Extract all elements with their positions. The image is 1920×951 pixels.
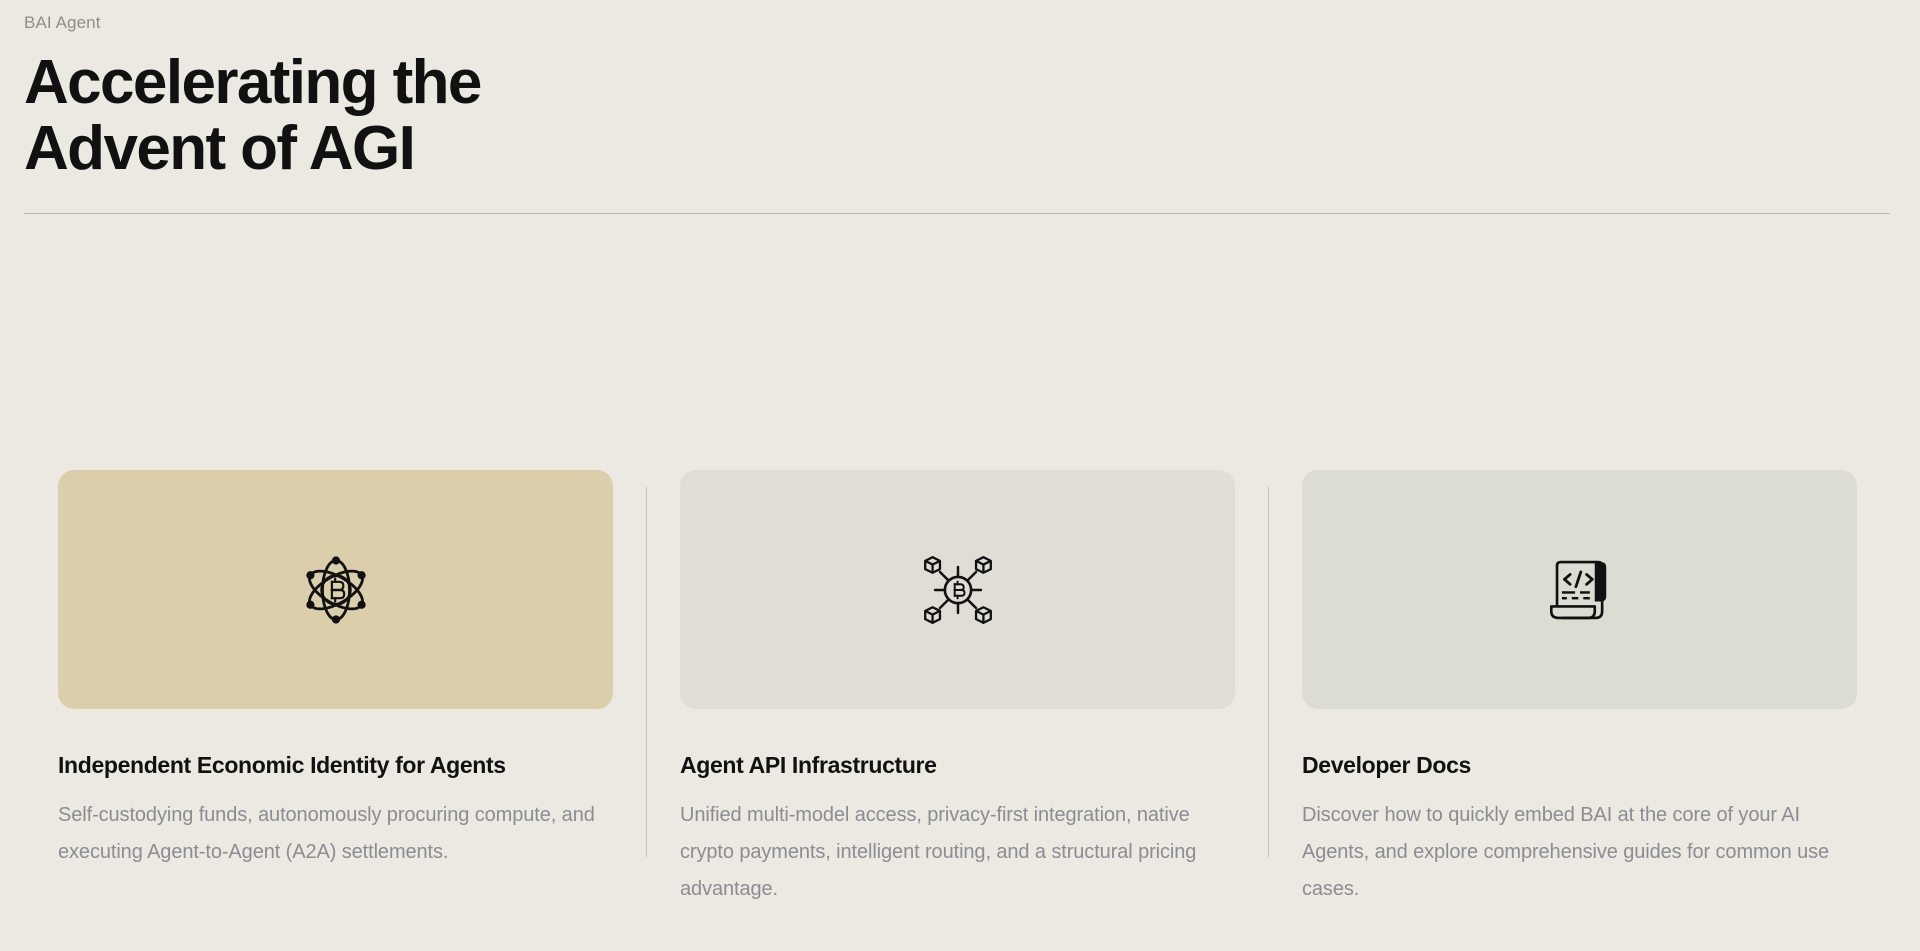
bitcoin-b-glyph bbox=[954, 581, 964, 597]
card-icon-panel bbox=[1302, 470, 1857, 709]
card-description: Discover how to quickly embed BAI at the… bbox=[1302, 797, 1857, 908]
feature-card-independent-economic-identity[interactable]: Independent Economic Identity for Agents… bbox=[58, 470, 613, 871]
page-title-line-2: Advent of AGI bbox=[24, 116, 724, 182]
feature-card-agent-api-infrastructure[interactable]: Agent API Infrastructure Unified multi-m… bbox=[680, 470, 1235, 908]
code-chevrons bbox=[1564, 571, 1592, 586]
page-header: BAI Agent Accelerating the Advent of AGI bbox=[0, 0, 1920, 182]
card-title: Independent Economic Identity for Agents bbox=[58, 751, 613, 779]
document-text-lines bbox=[1561, 592, 1589, 598]
document-spine bbox=[1594, 562, 1605, 601]
document-curl bbox=[1551, 606, 1594, 617]
column-divider-2 bbox=[1268, 487, 1269, 857]
bitcoin-b-glyph bbox=[331, 578, 343, 601]
card-description: Unified multi-model access, privacy-firs… bbox=[680, 797, 1235, 908]
header-divider bbox=[24, 213, 1890, 214]
column-divider-1 bbox=[646, 487, 647, 857]
card-title: Agent API Infrastructure bbox=[680, 751, 1235, 779]
card-icon-panel bbox=[58, 470, 613, 709]
code-document-icon bbox=[1539, 549, 1621, 631]
brand-eyebrow: BAI Agent bbox=[24, 12, 1920, 34]
network-nodes-bitcoin-icon bbox=[917, 549, 999, 631]
feature-card-developer-docs[interactable]: Developer Docs Discover how to quickly e… bbox=[1302, 470, 1857, 908]
page-title: Accelerating the Advent of AGI bbox=[24, 50, 724, 182]
atom-bitcoin-icon bbox=[295, 549, 377, 631]
card-title: Developer Docs bbox=[1302, 751, 1857, 779]
card-description: Self-custodying funds, autonomously proc… bbox=[58, 797, 613, 871]
page-title-line-1: Accelerating the bbox=[24, 50, 724, 116]
feature-card-grid: Independent Economic Identity for Agents… bbox=[58, 470, 1862, 908]
card-icon-panel bbox=[680, 470, 1235, 709]
